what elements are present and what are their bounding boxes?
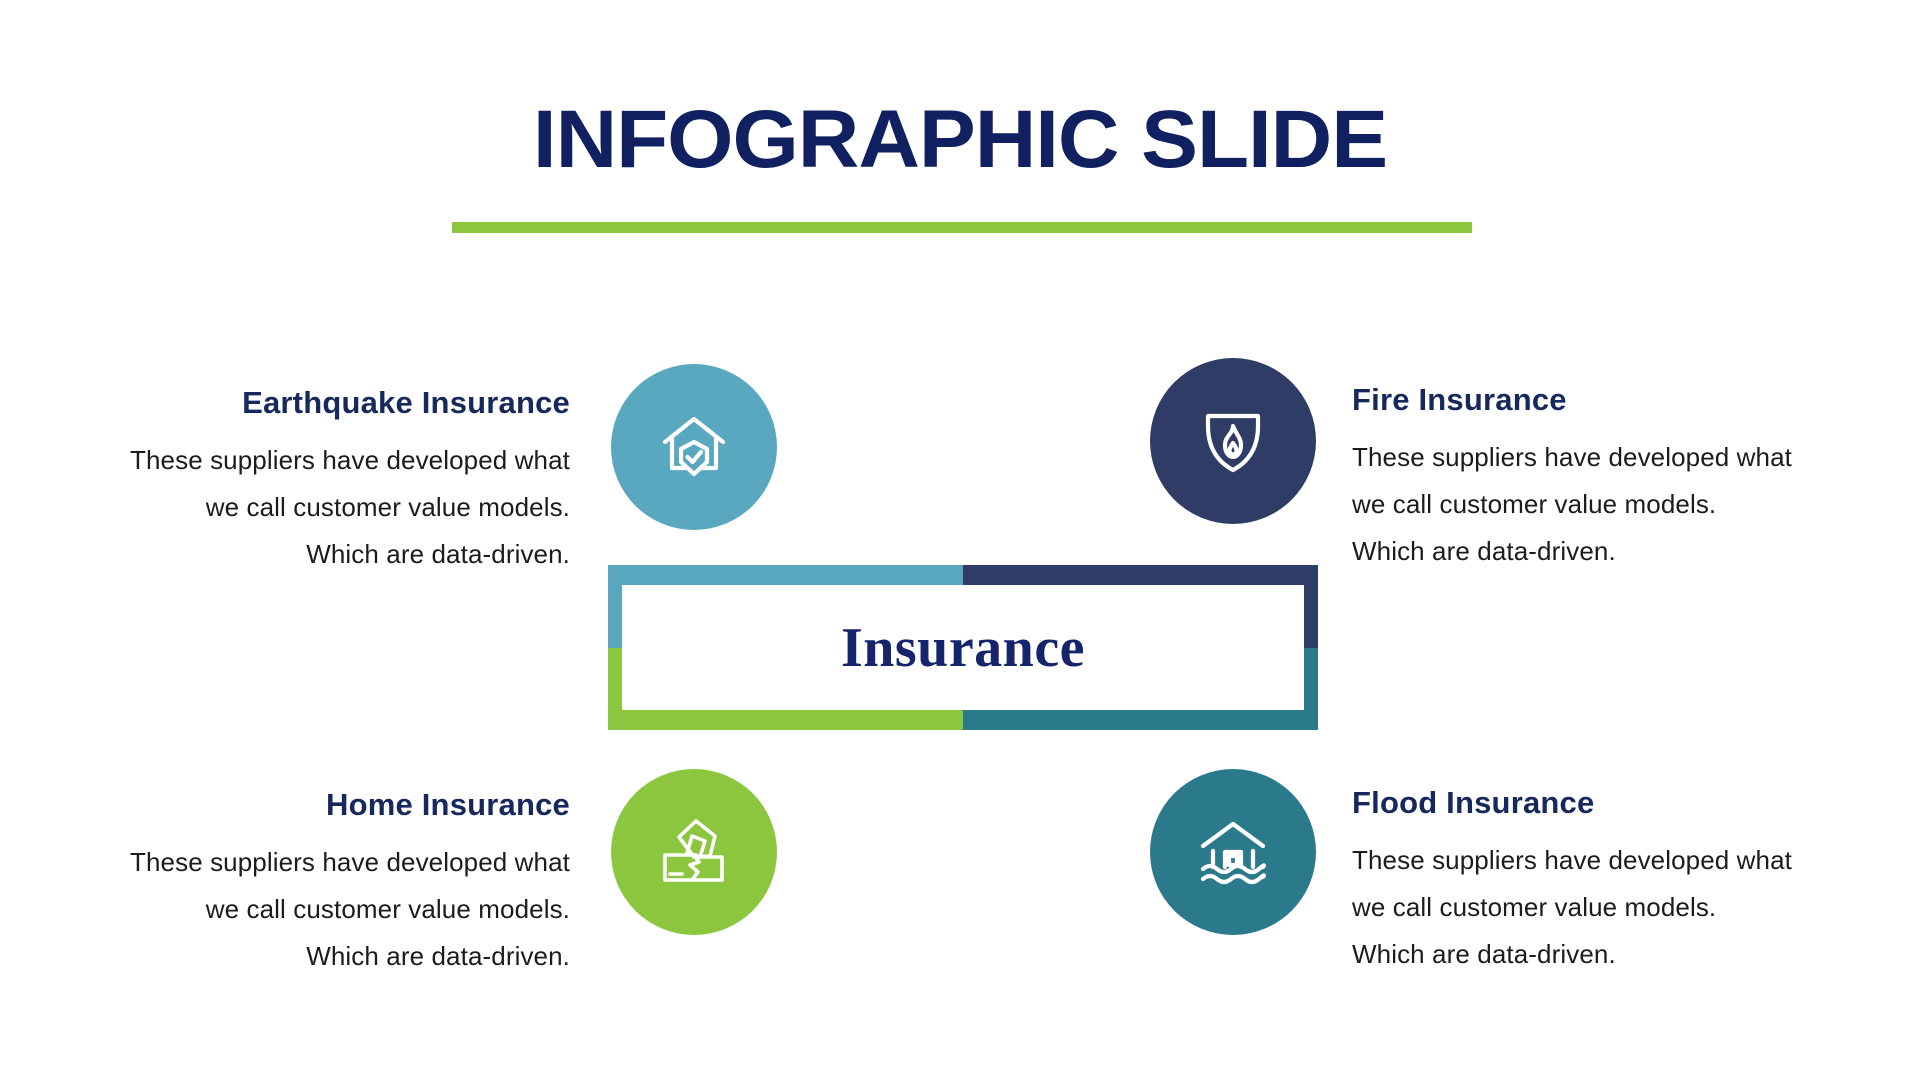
icon-circle-fire[interactable] <box>1150 358 1316 524</box>
icon-circle-flood[interactable] <box>1150 769 1316 935</box>
title-accent-rule <box>452 222 1472 233</box>
banner-inner: Insurance <box>622 585 1304 710</box>
block-title-earthquake: Earthquake Insurance <box>130 385 570 421</box>
block-title-fire: Fire Insurance <box>1352 382 1792 418</box>
text-block-earthquake: Earthquake Insurance These suppliers hav… <box>130 385 570 578</box>
block-title-home: Home Insurance <box>130 787 570 823</box>
center-label: Insurance <box>841 616 1085 680</box>
block-body-flood: These suppliers have developed what we c… <box>1352 837 1792 978</box>
text-block-flood: Flood Insurance These suppliers have dev… <box>1352 785 1792 978</box>
infographic-slide: INFOGRAPHIC SLIDE Earthquake Insurance T… <box>0 0 1920 1080</box>
icon-circle-home[interactable] <box>611 769 777 935</box>
block-body-fire: These suppliers have developed what we c… <box>1352 434 1792 575</box>
shield-flame-icon <box>1192 400 1274 482</box>
house-shield-check-icon <box>653 406 735 488</box>
page-title: INFOGRAPHIC SLIDE <box>0 96 1920 184</box>
house-flood-waves-icon <box>1191 810 1275 894</box>
block-body-home: These suppliers have developed what we c… <box>130 839 570 980</box>
block-title-flood: Flood Insurance <box>1352 785 1792 821</box>
center-banner: Insurance <box>608 565 1318 730</box>
icon-circle-earthquake[interactable] <box>611 364 777 530</box>
damaged-house-icon <box>652 810 736 894</box>
text-block-fire: Fire Insurance These suppliers have deve… <box>1352 382 1792 575</box>
text-block-home: Home Insurance These suppliers have deve… <box>130 787 570 980</box>
title-block: INFOGRAPHIC SLIDE <box>0 96 1920 184</box>
block-body-earthquake: These suppliers have developed what we c… <box>130 437 570 578</box>
